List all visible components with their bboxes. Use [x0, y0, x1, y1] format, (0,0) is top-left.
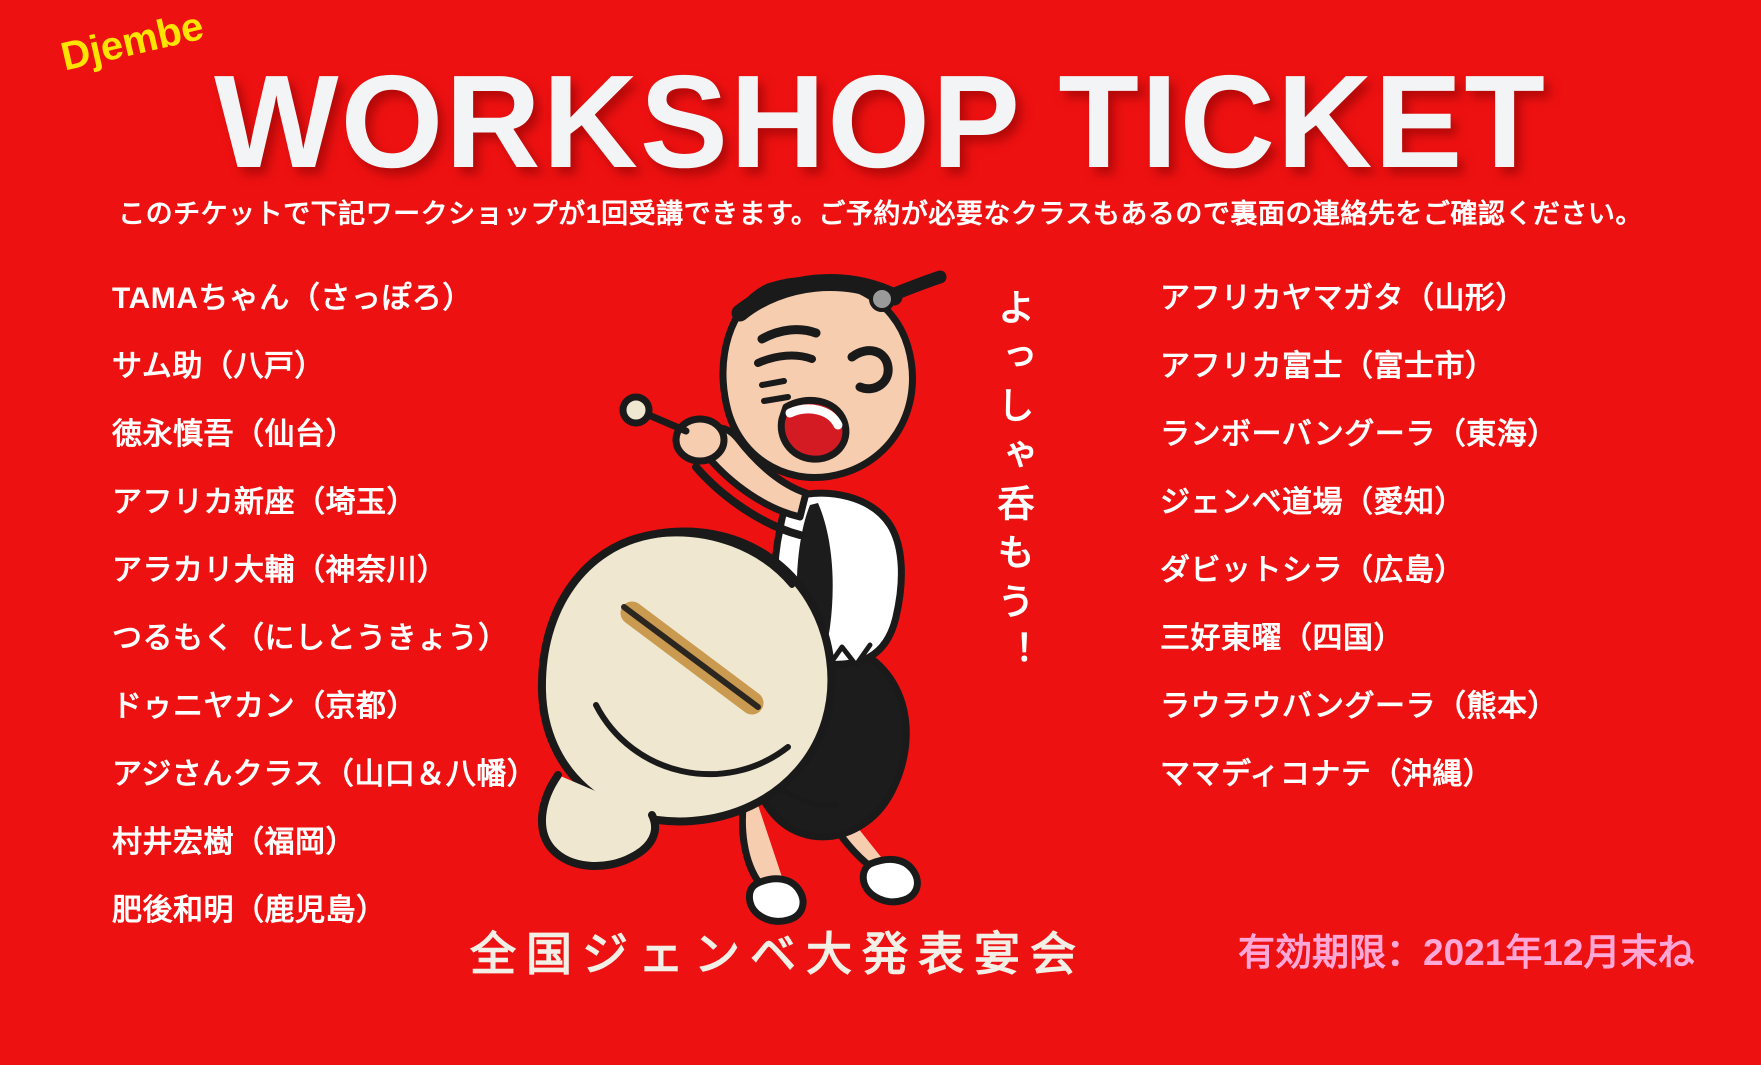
- list-item: ジェンベ道場（愛知）: [1160, 488, 1558, 518]
- workshop-list-right: アフリカヤマガタ（山形） アフリカ富士（富士市） ランボーバングーラ（東海） ジ…: [1160, 284, 1558, 828]
- list-item: 村井宏樹（福岡）: [112, 828, 537, 858]
- list-item: ダビットシラ（広島）: [1160, 556, 1558, 586]
- list-item: アラカリ大輔（神奈川）: [112, 556, 537, 586]
- page-title: WORKSHOP TICKET: [0, 56, 1761, 188]
- list-item: サム助（八戸）: [112, 352, 537, 382]
- workshop-list-left: TAMAちゃん（さっぽろ） サム助（八戸） 徳永慎吾（仙台） アフリカ新座（埼玉…: [112, 284, 537, 964]
- list-item: アフリカヤマガタ（山形）: [1160, 284, 1558, 314]
- vertical-shout-text: よっしゃ呑もう！: [985, 288, 1039, 680]
- event-name: 全国ジェンベ大発表宴会: [470, 918, 1086, 984]
- list-item: ランボーバングーラ（東海）: [1160, 420, 1558, 450]
- list-item: TAMAちゃん（さっぽろ）: [112, 284, 537, 314]
- ticket-instructions: このチケットで下記ワークショップが1回受講できます。ご予約が必要なクラスもあるの…: [0, 192, 1761, 231]
- expiry-date: 有効期限：2021年12月末ね: [1238, 922, 1694, 976]
- list-item: アジさんクラス（山口＆八幡）: [112, 760, 537, 790]
- list-item: 三好東曜（四国）: [1160, 624, 1558, 654]
- list-item: アフリカ新座（埼玉）: [112, 488, 537, 518]
- list-item: ラウラウバングーラ（熊本）: [1160, 692, 1558, 722]
- djembe-drummer-illustration: [500, 235, 1020, 925]
- workshop-ticket-poster: Djembe WORKSHOP TICKET このチケットで下記ワークショップが…: [0, 0, 1761, 1065]
- list-item: 徳永慎吾（仙台）: [112, 420, 537, 450]
- list-item: つるもく（にしとうきょう）: [112, 624, 537, 654]
- list-item: ドゥニヤカン（京都）: [112, 692, 537, 722]
- list-item: ママディコナテ（沖縄）: [1160, 760, 1558, 790]
- list-item: アフリカ富士（富士市）: [1160, 352, 1558, 382]
